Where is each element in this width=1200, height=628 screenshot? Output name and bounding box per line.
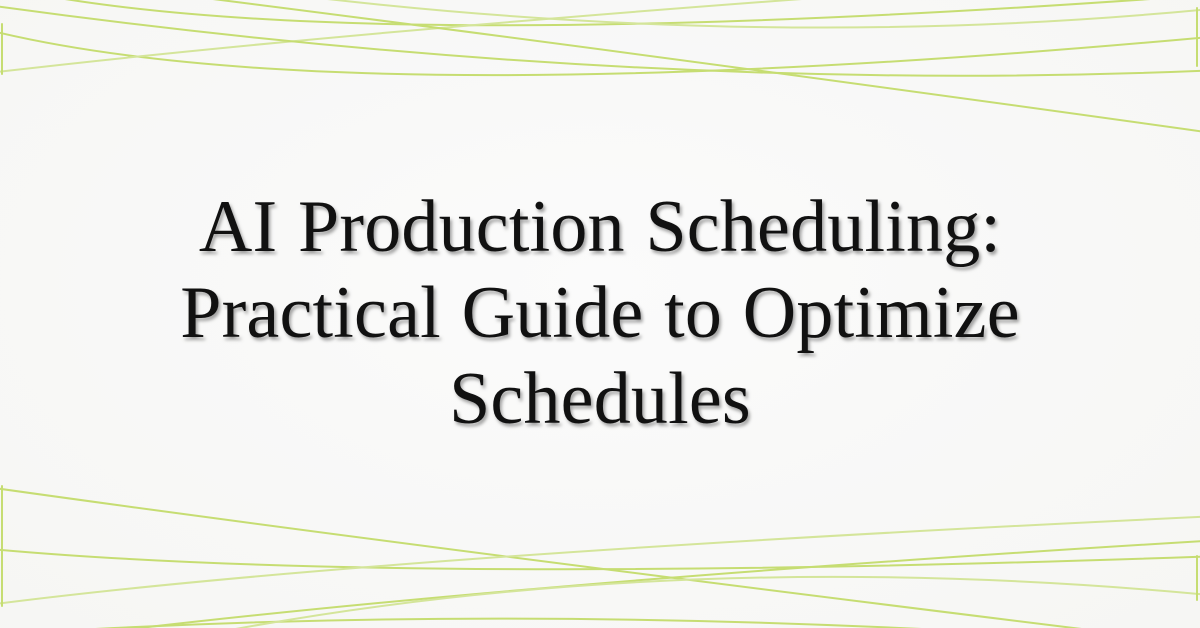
page-title-line-3: Schedules: [449, 358, 751, 440]
page-title-line-2: Practical Guide to Optimize: [180, 272, 1020, 354]
title-container: AI Production Scheduling: Practical Guid…: [0, 0, 1200, 628]
social-card: AI Production Scheduling: Practical Guid…: [0, 0, 1200, 628]
page-title-line-1: AI Production Scheduling:: [199, 186, 1001, 268]
page-title: AI Production Scheduling: Practical Guid…: [88, 185, 1112, 442]
